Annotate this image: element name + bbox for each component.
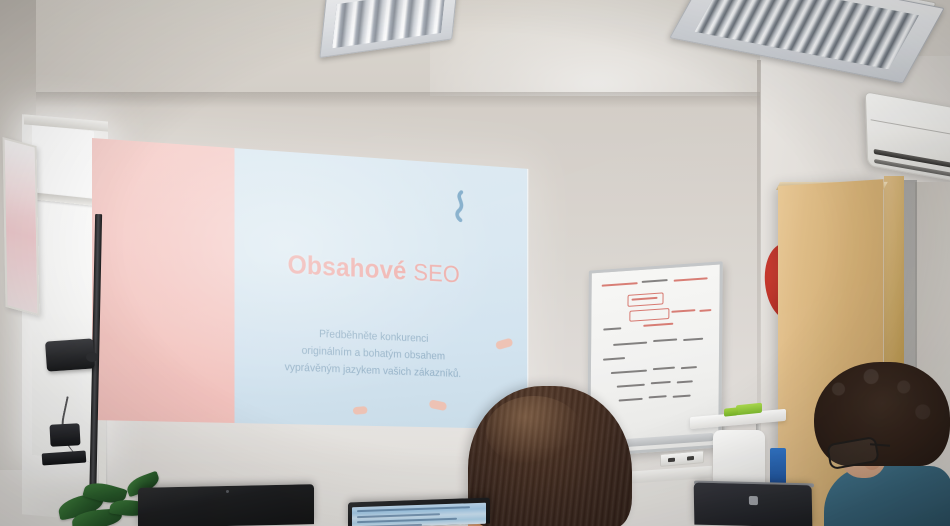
laptop-right[interactable] xyxy=(694,483,813,526)
dash-decoration xyxy=(429,399,448,411)
slide-title-main: Obsahové xyxy=(287,249,406,285)
projection-screen: Obsahové SEO Předběhněte konkurenci orig… xyxy=(92,138,528,429)
camera-clamp xyxy=(49,423,80,447)
laptop-center-screen[interactable] xyxy=(352,503,486,526)
room-photo-scene: Obsahové SEO Předběhněte konkurenci orig… xyxy=(0,0,950,526)
webcam-icon xyxy=(226,490,229,493)
squiggle-decoration-icon xyxy=(450,190,469,223)
slide-color-band xyxy=(92,138,235,423)
light-louvers xyxy=(332,0,446,48)
attendee-right xyxy=(800,362,950,526)
hair-highlight xyxy=(486,396,582,466)
slide-title-accent: SEO xyxy=(413,259,460,288)
chair-backrest xyxy=(713,430,765,488)
laptop-left[interactable] xyxy=(138,484,314,526)
framed-poster xyxy=(3,137,40,316)
presentation-slide: Obsahové SEO Předběhněte konkurenci orig… xyxy=(92,138,528,429)
slide-subtitle: Předběhněte konkurenci originálním a boh… xyxy=(230,323,512,386)
poster-glare xyxy=(5,140,38,314)
dash-decoration xyxy=(353,406,368,415)
wall-ceiling-shadow xyxy=(0,92,790,108)
attendee-center xyxy=(468,386,632,526)
green-stationery xyxy=(724,407,738,416)
attendee-right-shirt xyxy=(824,466,950,526)
camera-knob xyxy=(86,352,98,362)
laptop-logo-icon xyxy=(749,496,758,505)
laptop-center[interactable] xyxy=(348,498,490,526)
slide-title: Obsahové SEO xyxy=(248,247,495,291)
blue-bottle xyxy=(770,448,786,484)
ac-seam xyxy=(871,119,950,136)
